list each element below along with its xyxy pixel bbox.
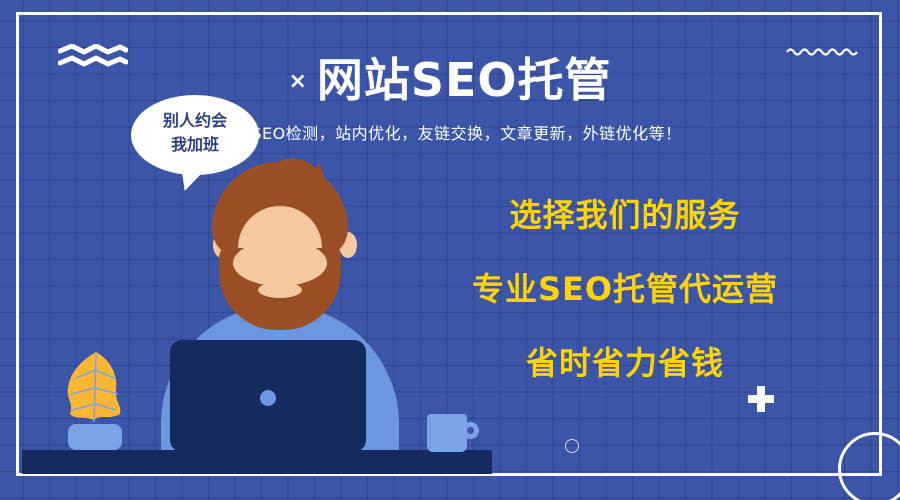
person-cheeks bbox=[233, 240, 327, 286]
coffee-mug bbox=[427, 414, 467, 452]
speech-bubble-text: 别人约会 我加班 bbox=[131, 109, 259, 157]
speech-bubble-line-2: 我加班 bbox=[131, 133, 259, 157]
desk bbox=[22, 450, 492, 474]
person-mouth bbox=[258, 282, 302, 298]
laptop-logo-icon bbox=[260, 390, 276, 406]
speech-bubble: 别人约会 我加班 bbox=[131, 95, 259, 175]
speech-bubble-line-1: 别人约会 bbox=[131, 109, 259, 133]
plant-pot bbox=[68, 424, 122, 450]
seo-banner: ×网站SEO托管 含：SEO检测，站内优化，友链交换，文章更新，外链优化等！ 选… bbox=[0, 0, 900, 500]
plant-leaf bbox=[60, 348, 132, 436]
